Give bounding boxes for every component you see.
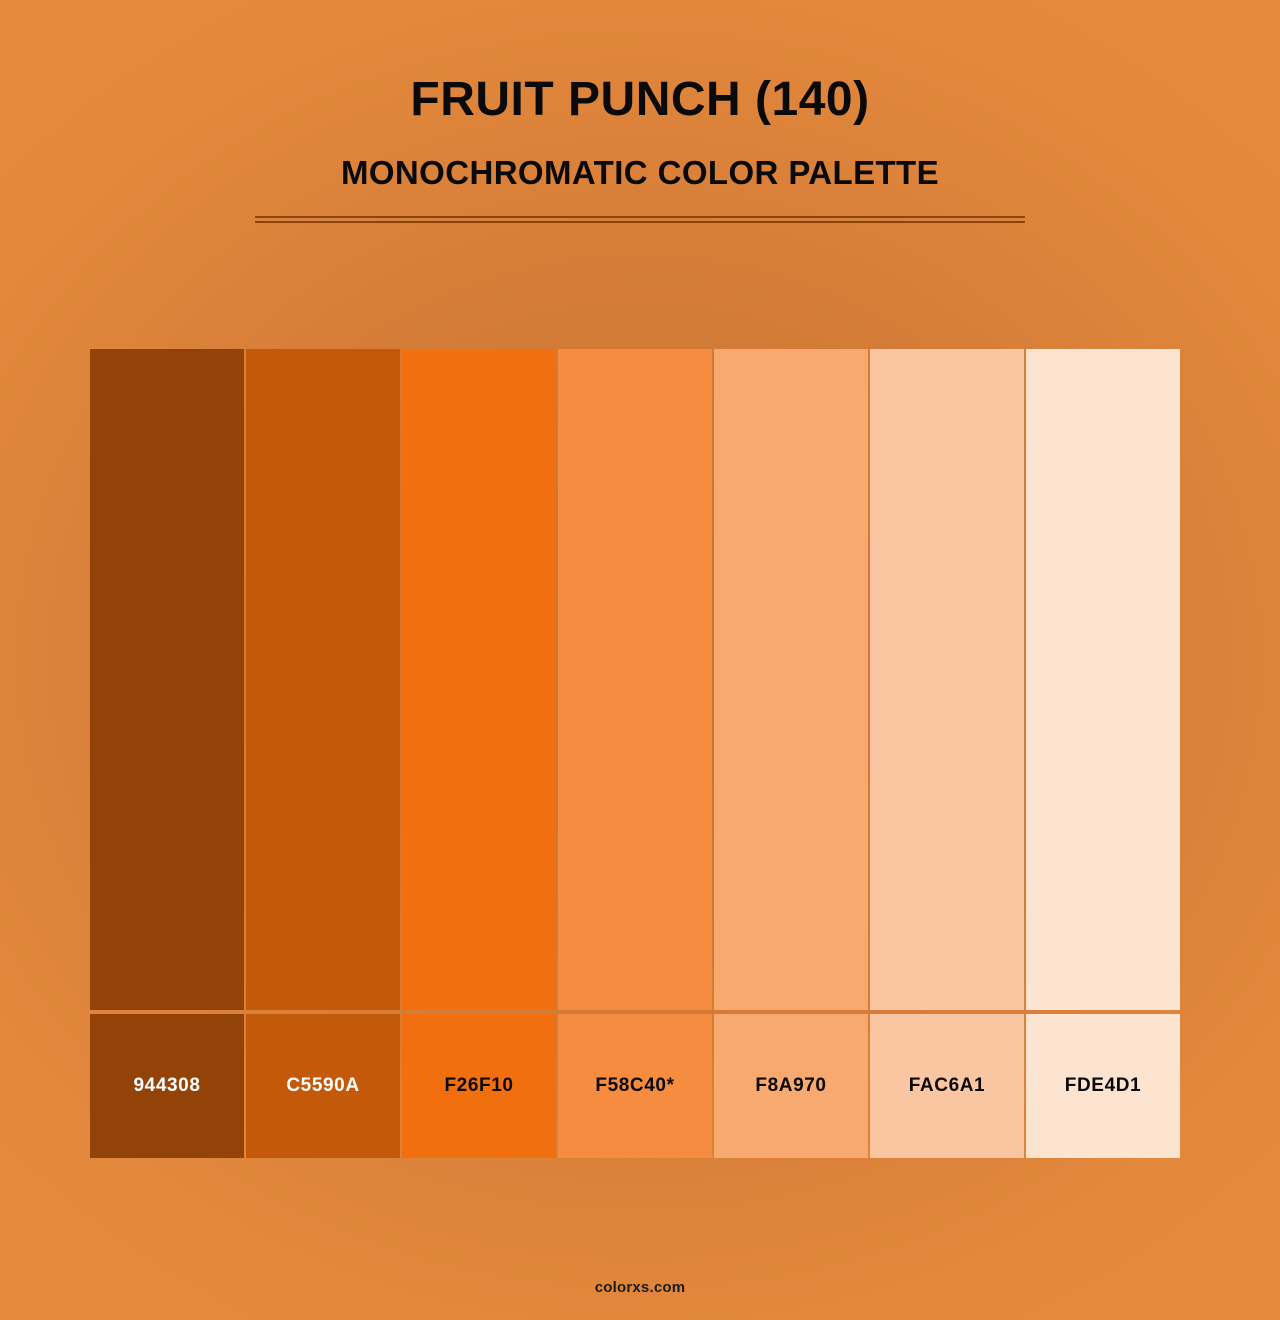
header: FRUIT PUNCH (140) MONOCHROMATIC COLOR PA… [0, 0, 1280, 223]
color-hex-label: FAC6A1 [909, 1075, 985, 1097]
color-swatch[interactable] [246, 349, 400, 1010]
color-hex-label: F58C40* [595, 1075, 674, 1097]
color-swatch[interactable] [402, 349, 556, 1010]
color-swatch[interactable] [90, 349, 244, 1010]
color-label-cell[interactable]: FDE4D1 [1026, 1014, 1180, 1158]
site-credit: colorxs.com [0, 1279, 1280, 1296]
page-subtitle: MONOCHROMATIC COLOR PALETTE [0, 155, 1280, 191]
page-title: FRUIT PUNCH (140) [0, 74, 1280, 126]
color-hex-label: C5590A [286, 1075, 359, 1097]
swatch-row [90, 349, 1180, 1010]
color-label-cell[interactable]: FAC6A1 [870, 1014, 1024, 1158]
divider-line-top [255, 216, 1025, 218]
color-label-cell[interactable]: C5590A [246, 1014, 400, 1158]
divider-line-bottom [255, 221, 1025, 223]
color-swatch[interactable] [558, 349, 712, 1010]
swatch-label-row: 944308C5590AF26F10F58C40*F8A970FAC6A1FDE… [90, 1014, 1180, 1158]
color-palette: 944308C5590AF26F10F58C40*F8A970FAC6A1FDE… [90, 349, 1180, 1158]
color-label-cell[interactable]: 944308 [90, 1014, 244, 1158]
color-hex-label: F8A970 [755, 1075, 826, 1097]
color-swatch[interactable] [1026, 349, 1180, 1010]
color-hex-label: 944308 [133, 1075, 200, 1097]
color-label-cell[interactable]: F8A970 [714, 1014, 868, 1158]
color-hex-label: F26F10 [444, 1075, 513, 1097]
color-label-cell[interactable]: F26F10 [402, 1014, 556, 1158]
title-divider [255, 216, 1025, 223]
color-swatch[interactable] [714, 349, 868, 1010]
color-hex-label: FDE4D1 [1065, 1075, 1141, 1097]
color-swatch[interactable] [870, 349, 1024, 1010]
footer: colorxs.com [0, 1279, 1280, 1296]
color-label-cell[interactable]: F58C40* [558, 1014, 712, 1158]
